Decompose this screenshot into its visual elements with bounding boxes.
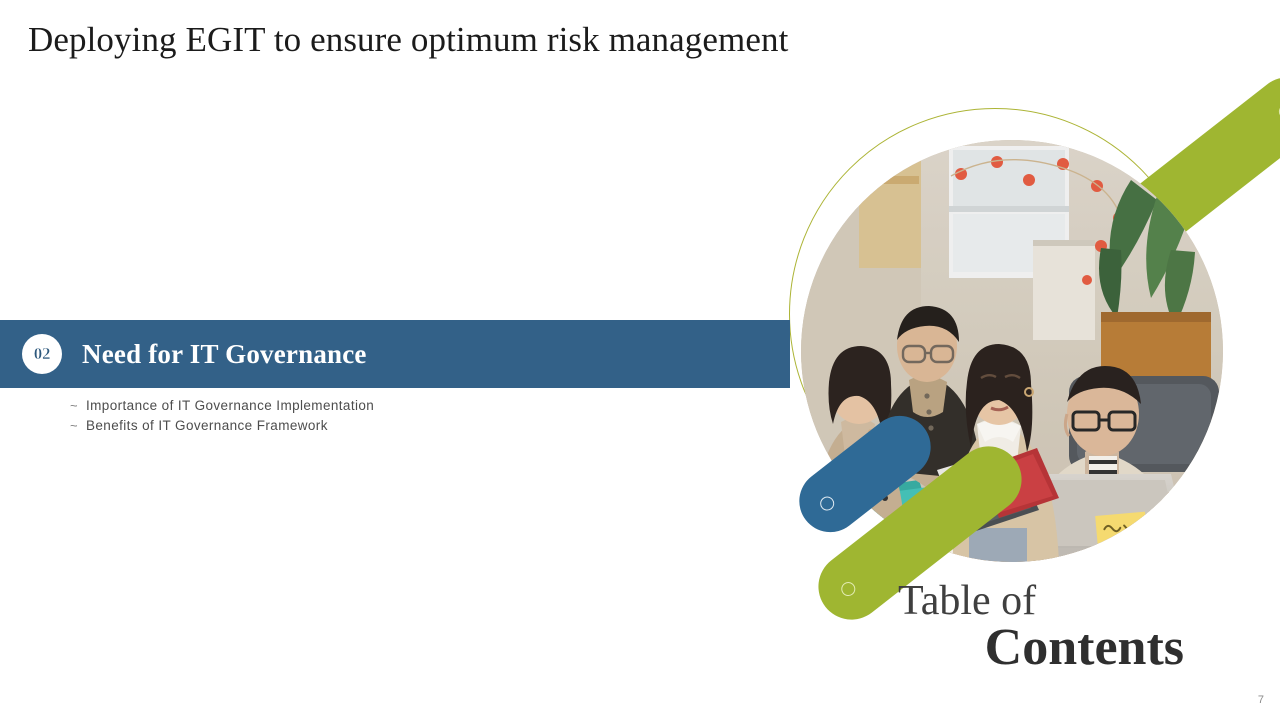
pill-dot-icon	[838, 579, 858, 599]
page-number: 7	[1258, 694, 1264, 706]
bullet-label: Benefits of IT Governance Framework	[86, 416, 328, 436]
page-title: Deploying EGIT to ensure optimum risk ma…	[28, 20, 1028, 60]
toc-line-one: Table of	[898, 578, 1198, 624]
section-heading: Need for IT Governance	[82, 339, 367, 370]
pill-dot-icon	[817, 494, 837, 514]
table-of-contents-heading: Table of Contents	[898, 578, 1198, 674]
toc-line-two: Contents	[898, 622, 1198, 674]
slide-canvas: Deploying EGIT to ensure optimum risk ma…	[0, 0, 1280, 720]
list-item[interactable]: ~ Importance of IT Governance Implementa…	[70, 396, 590, 416]
section-number-badge: 02	[22, 334, 62, 374]
section-bar[interactable]: 02 Need for IT Governance	[0, 320, 790, 388]
pill-dot-icon	[1276, 102, 1280, 122]
bullet-label: Importance of IT Governance Implementati…	[86, 396, 374, 416]
bullet-marker-icon: ~	[70, 416, 86, 436]
section-number: 02	[34, 344, 50, 364]
list-item[interactable]: ~ Benefits of IT Governance Framework	[70, 416, 590, 436]
bullet-marker-icon: ~	[70, 396, 86, 416]
section-bullet-list: ~ Importance of IT Governance Implementa…	[70, 396, 590, 436]
